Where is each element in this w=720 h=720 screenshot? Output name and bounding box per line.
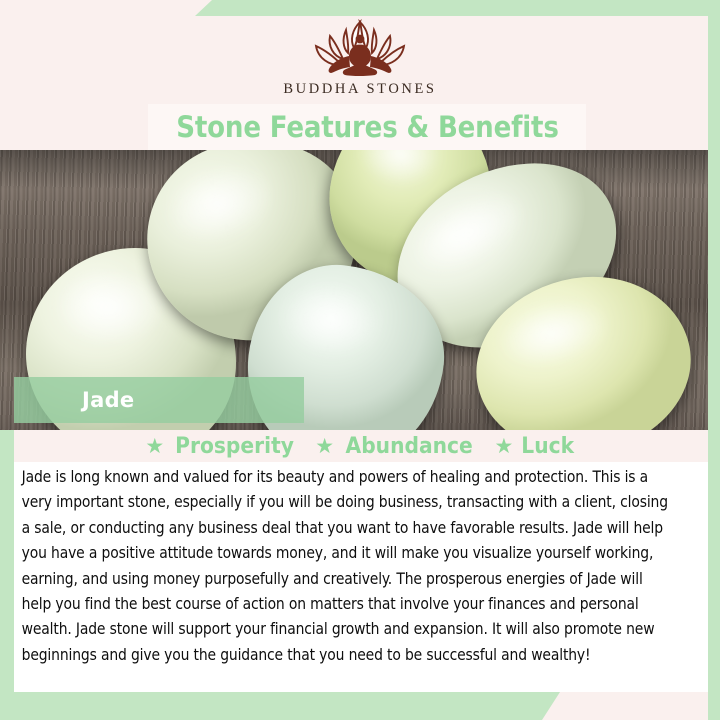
decor-bottom-green-strip [0, 692, 560, 720]
stone-name: Jade [82, 388, 134, 412]
brand-name: BUDDHA STONES [283, 81, 436, 98]
benefit-item: ★ Prosperity [145, 434, 299, 459]
star-icon: ★ [494, 436, 513, 457]
benefit-item: ★ Abundance [315, 434, 478, 459]
infographic-page: BUDDHA STONES Stone Features & Benefits … [0, 0, 720, 720]
decor-top-green-strip [195, 0, 720, 16]
benefit-item: ★ Luck [494, 434, 576, 459]
stone-name-badge: Jade [14, 377, 304, 423]
description-text: Jade is long known and valued for its be… [14, 462, 677, 667]
star-icon: ★ [145, 436, 164, 457]
benefit-label-prosperity: Prosperity [175, 434, 294, 459]
page-title: Stone Features & Benefits [176, 110, 558, 144]
brand-logo: BUDDHA STONES [0, 16, 720, 106]
description-card: Jade is long known and valued for its be… [14, 462, 708, 692]
benefit-label-abundance: Abundance [346, 434, 473, 459]
title-banner: Stone Features & Benefits [148, 104, 586, 150]
star-icon: ★ [315, 436, 334, 457]
decor-left-green-bar [0, 386, 14, 720]
benefit-label-luck: Luck [522, 434, 575, 459]
decor-right-green-edge [708, 0, 720, 720]
lotus-meditation-icon [300, 16, 420, 78]
benefits-row: ★ Prosperity ★ Abundance ★ Luck [14, 430, 708, 462]
